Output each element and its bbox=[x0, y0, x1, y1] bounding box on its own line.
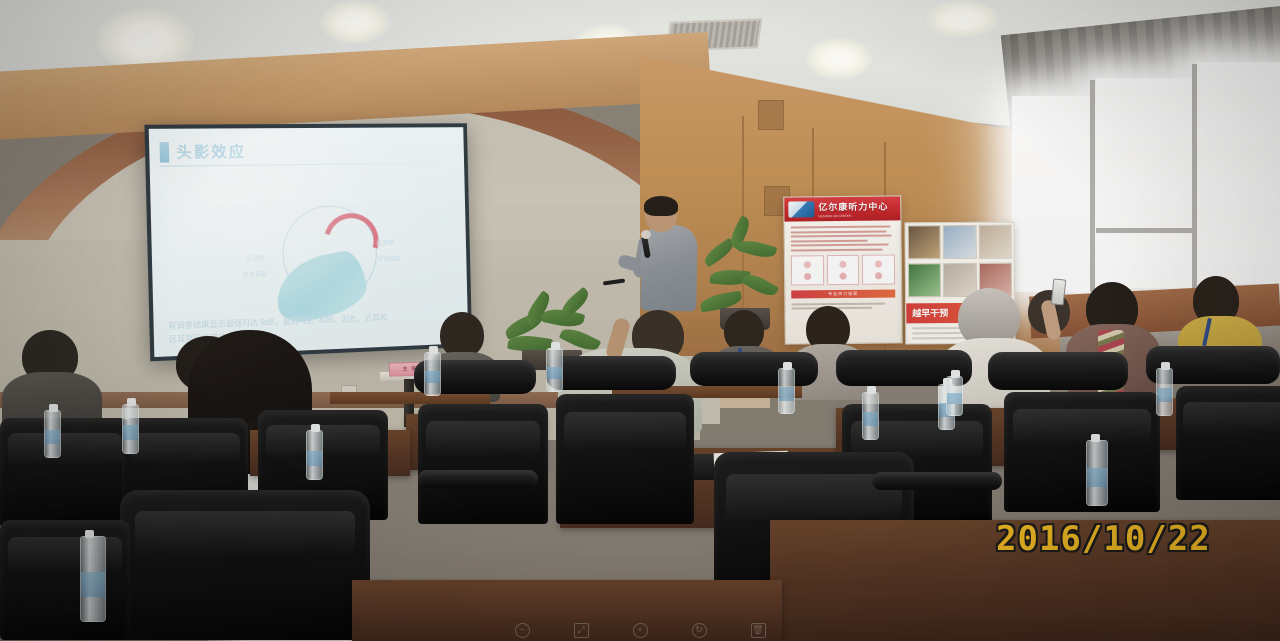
audiogram-grid bbox=[791, 254, 895, 285]
chair bbox=[1176, 386, 1280, 500]
slide-title-marker bbox=[159, 142, 169, 163]
bottle-label bbox=[45, 430, 60, 444]
ceiling-spotlight bbox=[926, 0, 1000, 38]
slide-title-rule bbox=[160, 162, 449, 166]
poster-photo bbox=[978, 225, 1012, 259]
bottle-label bbox=[425, 371, 440, 384]
delete-icon[interactable]: 🗑 bbox=[751, 623, 766, 638]
zoom-in-icon[interactable]: + bbox=[633, 623, 648, 638]
presenter-hair bbox=[644, 196, 678, 216]
bottle-label bbox=[123, 425, 138, 439]
poster-text-line bbox=[791, 234, 892, 237]
chair-back bbox=[988, 352, 1128, 390]
chair bbox=[120, 490, 370, 640]
bottle-label bbox=[863, 412, 878, 426]
chair bbox=[1004, 392, 1160, 512]
bottle-label bbox=[81, 572, 105, 597]
bottle-label bbox=[307, 451, 322, 465]
slide-bowtie-shape bbox=[353, 165, 391, 204]
chair-armrest bbox=[418, 470, 538, 488]
water-bottle bbox=[946, 376, 963, 416]
ceiling-spotlight bbox=[806, 38, 872, 80]
bottle-label bbox=[1157, 388, 1172, 402]
poster-photo bbox=[908, 225, 942, 259]
poster-text-line bbox=[791, 226, 891, 229]
poster-body: 专业听力验配 bbox=[784, 220, 901, 317]
water-bottle bbox=[80, 536, 106, 622]
poster-text-line bbox=[791, 248, 883, 251]
camera-date-stamp: 2016/10/22 bbox=[996, 519, 1211, 559]
water-bottle bbox=[862, 392, 879, 440]
microphone-head-icon bbox=[641, 230, 651, 239]
water-bottle bbox=[1156, 368, 1173, 416]
slide-label-far-ear: 远耳侧 bbox=[376, 238, 394, 247]
slide-label-near-ear-mask: 声音遮蔽 bbox=[243, 269, 267, 279]
water-bottle bbox=[122, 404, 139, 454]
window-mullion bbox=[1192, 64, 1197, 288]
plant-leaf bbox=[741, 270, 779, 300]
poster-text-line bbox=[791, 239, 868, 242]
bottle-label bbox=[779, 387, 794, 400]
ceiling-spotlight bbox=[320, 0, 390, 44]
water-bottle bbox=[44, 410, 61, 458]
window-mullion bbox=[1090, 80, 1095, 292]
window-pane bbox=[1012, 96, 1090, 292]
poster-text-line bbox=[791, 230, 887, 233]
poster-photo-row bbox=[906, 223, 1014, 262]
slide-title-bar: 头影效应 bbox=[159, 140, 246, 162]
projection-screen: 头影效应 远耳侧 对话加强 近耳侧 声音遮蔽 有调查结果显示最强可达 9dB，最… bbox=[144, 123, 472, 361]
window-pane bbox=[1198, 62, 1280, 284]
poster-strip-label: 专业听力验配 bbox=[791, 289, 895, 298]
zoom-out-icon[interactable]: − bbox=[515, 623, 530, 638]
mobile-phone bbox=[1051, 278, 1067, 305]
water-bottle bbox=[546, 348, 563, 392]
image-viewer-toolbar[interactable]: − ⤢ + ↻ 🗑 bbox=[0, 619, 1280, 641]
poster-text-line bbox=[791, 244, 889, 247]
poster-banner-title: 亿尔康听力中心 bbox=[818, 200, 888, 214]
poster-photo bbox=[908, 263, 942, 297]
poster-banner-subtitle: HEARING AID CENTER bbox=[818, 214, 888, 219]
chair-armrest bbox=[872, 472, 1002, 490]
chair-back bbox=[546, 356, 676, 390]
audiogram-cell bbox=[826, 254, 859, 284]
bottle-label bbox=[547, 367, 562, 380]
fit-icon[interactable]: ⤢ bbox=[574, 623, 589, 638]
window-pane bbox=[1096, 78, 1192, 288]
audiogram-cell bbox=[791, 255, 824, 285]
bottle-label bbox=[1087, 468, 1107, 487]
slide-label-near-ear: 近耳侧 bbox=[246, 253, 264, 263]
chair-back bbox=[690, 352, 818, 386]
photo-canvas: 头影效应 远耳侧 对话加强 近耳侧 声音遮蔽 有调查结果显示最强可达 9dB，最… bbox=[0, 0, 1280, 641]
water-bottle bbox=[1086, 440, 1108, 506]
poster-banner: 亿尔康听力中心 HEARING AID CENTER bbox=[784, 196, 900, 221]
poster-photo bbox=[943, 225, 977, 259]
plant-leaf bbox=[737, 237, 777, 261]
audiogram-cell bbox=[862, 254, 895, 284]
bottle-label bbox=[947, 393, 962, 404]
chair bbox=[0, 418, 130, 528]
window-mullion bbox=[1096, 228, 1192, 233]
rotate-icon[interactable]: ↻ bbox=[692, 623, 707, 638]
wall-plate bbox=[758, 100, 784, 130]
water-bottle bbox=[424, 352, 441, 396]
brand-logo-icon bbox=[788, 201, 814, 217]
slide-surface: 头影效应 远耳侧 对话加强 近耳侧 声音遮蔽 有调查结果显示最强可达 9dB，最… bbox=[149, 127, 469, 357]
chair bbox=[418, 404, 548, 524]
water-bottle bbox=[778, 368, 795, 414]
poster-text-line bbox=[791, 302, 885, 305]
slide-title: 头影效应 bbox=[176, 140, 246, 162]
water-bottle bbox=[306, 430, 323, 480]
chair bbox=[556, 394, 694, 524]
slide-label-far-ear-gain: 对话加强 bbox=[377, 254, 400, 264]
